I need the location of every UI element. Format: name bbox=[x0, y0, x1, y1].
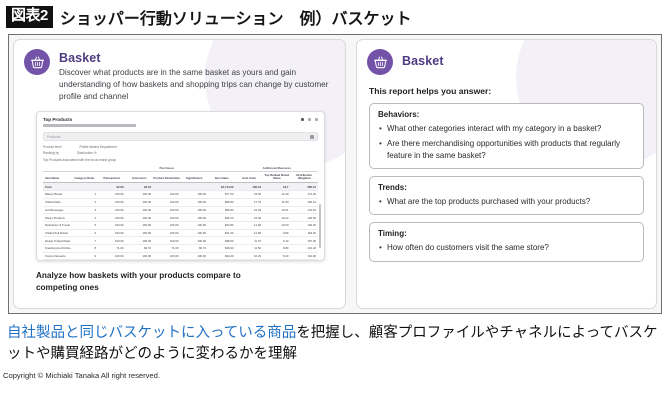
cell: 100.00 bbox=[126, 206, 154, 214]
basket-questions-card: Basket This report helps you answer: Beh… bbox=[356, 39, 657, 309]
question-list: What are the top products purchased with… bbox=[378, 196, 635, 207]
col-item-units[interactable]: Item Units bbox=[236, 172, 264, 183]
table-row: Bakery Bread1100.00100.00100.00100.00$77… bbox=[43, 191, 318, 199]
screenshot-subtitle: Shows which products are ranked within t… bbox=[43, 124, 193, 127]
cell: 4 bbox=[71, 214, 99, 222]
cell-item-name: Hot Beverages bbox=[43, 206, 71, 214]
cell: 107.30 bbox=[291, 237, 319, 245]
cell: 71.00 bbox=[98, 244, 126, 252]
question-item: What other categories interact with my c… bbox=[378, 123, 635, 134]
table-row: Snacking Hot Drinks871.0082.7071.0080.70… bbox=[43, 244, 318, 252]
cell: 101.00 bbox=[291, 252, 319, 260]
more-icon[interactable] bbox=[315, 118, 318, 121]
cell: 100.00 bbox=[126, 229, 154, 237]
question-list: What other categories interact with my c… bbox=[378, 123, 635, 161]
table-row: Frozen Desserts9100.00100.00100.00100.00… bbox=[43, 252, 318, 260]
page-title: 図表2 ショッパー行動ソリューション 例）バスケット bbox=[0, 0, 670, 33]
cell: 101.20 bbox=[291, 244, 319, 252]
cell: 100.00 bbox=[98, 198, 126, 206]
cell: $46.00 bbox=[208, 214, 236, 222]
cell: 100.00 bbox=[98, 260, 126, 261]
cell: 100.00 bbox=[181, 260, 209, 261]
cell: 10.22 bbox=[263, 214, 291, 222]
table-row: Ready To Eat Meals7100.00100.00100.00100… bbox=[43, 237, 318, 245]
cell: 8.80 bbox=[263, 244, 291, 252]
cell: 100.00 bbox=[181, 191, 209, 199]
copyright-notice: Copyright © Michiaki Tanaka All right re… bbox=[3, 371, 670, 380]
cell: 71.00 bbox=[153, 244, 181, 252]
table-row: Meal Makers10100.00100.00100.00100.00$28… bbox=[43, 260, 318, 261]
cell-item-name: Bakery Bread bbox=[43, 191, 71, 199]
cell: 3 bbox=[71, 206, 99, 214]
cell: 10.00 bbox=[263, 221, 291, 229]
cell: 100.00 bbox=[181, 214, 209, 222]
summary-highlight: 自社製品と同じバスケットに入っている商品 bbox=[7, 325, 296, 341]
table-column-header-row: Item Name Category Rank Transactions Cus… bbox=[43, 172, 318, 183]
cell: 141.23 bbox=[291, 206, 319, 214]
question-group-timing: Timing: How often do customers visit the… bbox=[369, 222, 644, 261]
cell: 5 bbox=[71, 221, 99, 229]
table-row: Refreshers & Treats5100.00100.00100.0010… bbox=[43, 221, 318, 229]
basket-card-title: Basket bbox=[59, 49, 335, 65]
cell: 100.00 bbox=[153, 198, 181, 206]
meta-value: Profile Marina Department bbox=[79, 145, 116, 149]
cell: 100.00 bbox=[98, 221, 126, 229]
cell: 100.00 bbox=[98, 252, 126, 260]
table-row: Total92.6892.18$1,714.22166.3418.7580.12 bbox=[43, 183, 318, 191]
slide-frame: Basket Discover what products are in the… bbox=[8, 34, 662, 314]
cell: $66.80 bbox=[208, 198, 236, 206]
question-list: How often do customers visit the same st… bbox=[378, 242, 635, 253]
cell: $36.90 bbox=[208, 244, 236, 252]
cell: 100.00 bbox=[153, 214, 181, 222]
summary-text: 自社製品と同じバスケットに入っている商品を把握し、顧客プロファイルやチャネルによ… bbox=[7, 323, 663, 364]
cell: 100.00 bbox=[181, 206, 209, 214]
cell-item-name: Frozen Desserts bbox=[43, 252, 71, 260]
col-category-rank[interactable]: Category Rank bbox=[71, 172, 99, 183]
report-screenshot: Top Products Shows which products are ra… bbox=[36, 111, 325, 261]
meta-label: Product level bbox=[43, 145, 61, 149]
cell: 125.50 bbox=[291, 214, 319, 222]
cell-item-name: Pastry Products bbox=[43, 214, 71, 222]
cell: 100.00 bbox=[126, 252, 154, 260]
group-heading: Trends: bbox=[378, 183, 635, 192]
basket-card-header: Basket Discover what products are in the… bbox=[14, 40, 345, 103]
cell-item-name: Chilled Soft Drinks bbox=[43, 229, 71, 237]
cell: 100.00 bbox=[153, 252, 181, 260]
col-distribution-weighted[interactable]: Distribution Weighted bbox=[291, 172, 319, 183]
cell: 100.00 bbox=[126, 221, 154, 229]
table-row: Chilled Dairy2100.00100.00100.00100.00$6… bbox=[43, 198, 318, 206]
questions-lead: This report helps you answer: bbox=[369, 86, 644, 96]
cell bbox=[71, 183, 99, 191]
col-top-ranked-brand-share[interactable]: Top Ranked Brand Share bbox=[263, 172, 291, 183]
meta-value: Distribution % bbox=[77, 151, 97, 155]
col-product-penetration[interactable]: Product Penetration bbox=[153, 172, 181, 183]
screenshot-scrollbar[interactable] bbox=[319, 204, 321, 248]
question-item: What are the top products purchased with… bbox=[378, 196, 635, 207]
cell: 9.10 bbox=[263, 237, 291, 245]
cell: $56.80 bbox=[208, 206, 236, 214]
cell: 100.00 bbox=[153, 221, 181, 229]
cell: 100.00 bbox=[98, 214, 126, 222]
group-heading: Timing: bbox=[378, 229, 635, 238]
cell: $1,714.22 bbox=[208, 183, 236, 191]
col-transactions[interactable]: Transactions bbox=[98, 172, 126, 183]
cell: 100.00 bbox=[126, 191, 154, 199]
cell: 11.70 bbox=[236, 237, 264, 245]
cell: 580.12 bbox=[291, 183, 319, 191]
cell: 8.10 bbox=[263, 260, 291, 261]
cell: 150.41 bbox=[291, 198, 319, 206]
cell: 16.20 bbox=[236, 206, 264, 214]
cell-item-name: Total bbox=[43, 183, 71, 191]
basket-questions-title: Basket bbox=[402, 49, 444, 68]
cell-item-name: Refreshers & Treats bbox=[43, 221, 71, 229]
cell: 17.70 bbox=[236, 198, 264, 206]
cell: 100.00 bbox=[126, 260, 154, 261]
cell: 7 bbox=[71, 237, 99, 245]
cell: 100.00 bbox=[181, 198, 209, 206]
cell: 100.00 bbox=[126, 214, 154, 222]
cell: 172.20 bbox=[291, 191, 319, 199]
cell: 100.00 bbox=[181, 221, 209, 229]
cell: $38.60 bbox=[208, 237, 236, 245]
page-title-text: ショッパー行動ソリューション 例）バスケット bbox=[60, 5, 412, 29]
basket-icon bbox=[24, 49, 50, 75]
cell: 120.20 bbox=[291, 221, 319, 229]
question-item: How often do customers visit the same st… bbox=[378, 242, 635, 253]
cell: $41.00 bbox=[208, 229, 236, 237]
cell bbox=[181, 183, 209, 191]
cell: 9.80 bbox=[236, 260, 264, 261]
cell: $28.60 bbox=[208, 260, 236, 261]
cell: 18.7 bbox=[263, 183, 291, 191]
screenshot-meta: Product level Profile Marina Department … bbox=[43, 145, 318, 162]
basket-card-description: Discover what products are in the same b… bbox=[59, 67, 335, 103]
group-heading: Behaviors: bbox=[378, 110, 635, 119]
cell: 1 bbox=[71, 191, 99, 199]
table-row: Hot Beverages3100.00100.00100.00100.00$5… bbox=[43, 206, 318, 214]
screenshot-note: Top Products associated with the focus b… bbox=[43, 158, 318, 162]
cell: 82.70 bbox=[126, 244, 154, 252]
cell: 15.00 bbox=[236, 214, 264, 222]
cell: 14.90 bbox=[236, 221, 264, 229]
meta-row: Product level Profile Marina Department bbox=[43, 145, 318, 149]
cell: 100.00 bbox=[153, 191, 181, 199]
cell: 92.68 bbox=[98, 183, 126, 191]
cell: 11.50 bbox=[236, 244, 264, 252]
col-customers[interactable]: Customers bbox=[126, 172, 154, 183]
cell: 100.00 bbox=[126, 237, 154, 245]
cell-item-name: Snacking Hot Drinks bbox=[43, 244, 71, 252]
cell: 118.40 bbox=[291, 229, 319, 237]
cell: 100.00 bbox=[181, 237, 209, 245]
basket-icon bbox=[367, 49, 393, 75]
cell: 100.00 bbox=[98, 206, 126, 214]
export-icon[interactable] bbox=[301, 118, 304, 121]
cell: 100.00 bbox=[153, 229, 181, 237]
cell-item-name: Chilled Dairy bbox=[43, 198, 71, 206]
cell: $77.00 bbox=[208, 191, 236, 199]
cell: 12.30 bbox=[263, 191, 291, 199]
cell: 100.00 bbox=[181, 252, 209, 260]
cell: 10.01 bbox=[263, 206, 291, 214]
cell: 100.00 bbox=[98, 229, 126, 237]
screenshot-title: Top Products bbox=[43, 117, 193, 122]
meta-row: Ranking by Distribution % bbox=[43, 151, 318, 155]
cell-item-name: Ready To Eat Meals bbox=[43, 237, 71, 245]
meta-label: Ranking by bbox=[43, 151, 59, 155]
cell: 8 bbox=[71, 244, 99, 252]
cell: 10 bbox=[71, 260, 99, 261]
cell: 100.00 bbox=[153, 237, 181, 245]
col-item-name[interactable]: Item Name bbox=[43, 172, 71, 183]
col-significance[interactable]: Significance bbox=[181, 172, 209, 183]
cell: 9 bbox=[71, 252, 99, 260]
cell: 11.50 bbox=[263, 198, 291, 206]
cell: $34.00 bbox=[208, 252, 236, 260]
top-products-table: Purchases Additional Measures Item Name … bbox=[43, 166, 318, 261]
cell: 97.60 bbox=[291, 260, 319, 261]
cell: 6 bbox=[71, 229, 99, 237]
cell: 100.00 bbox=[98, 237, 126, 245]
cell: 8.40 bbox=[263, 252, 291, 260]
cell: 92.18 bbox=[126, 183, 154, 191]
table-body: Total92.6892.18$1,714.22166.3418.7580.12… bbox=[43, 183, 318, 261]
cell: 100.00 bbox=[153, 260, 181, 261]
search-icon bbox=[310, 135, 314, 139]
cell: 12.80 bbox=[236, 229, 264, 237]
cell: 2 bbox=[71, 198, 99, 206]
cell: 100.00 bbox=[98, 191, 126, 199]
cell: 166.34 bbox=[236, 183, 264, 191]
screenshot-search-input[interactable]: Products bbox=[43, 132, 318, 141]
figure-number-badge: 図表2 bbox=[6, 6, 53, 28]
cell: 10.20 bbox=[236, 252, 264, 260]
filter-icon[interactable] bbox=[308, 118, 311, 121]
cell: 100.00 bbox=[181, 229, 209, 237]
left-panel-caption: Analyze how baskets with your products c… bbox=[36, 270, 266, 294]
question-group-behaviors: Behaviors: What other categories interac… bbox=[369, 103, 644, 169]
question-item: Are there merchandising opportunities wi… bbox=[378, 138, 635, 161]
cell: 80.70 bbox=[181, 244, 209, 252]
table-row: Chilled Soft Drinks6100.00100.00100.0010… bbox=[43, 229, 318, 237]
cell: 9.80 bbox=[263, 229, 291, 237]
cell: 23.00 bbox=[236, 191, 264, 199]
cell: 100.00 bbox=[153, 206, 181, 214]
basket-overview-card: Basket Discover what products are in the… bbox=[13, 39, 346, 309]
cell bbox=[153, 183, 181, 191]
screenshot-toolbar[interactable] bbox=[301, 117, 318, 121]
basket-questions-header: Basket bbox=[357, 40, 656, 75]
cell: $44.80 bbox=[208, 221, 236, 229]
col-item-value[interactable]: Item Value bbox=[208, 172, 236, 183]
cell-item-name: Meal Makers bbox=[43, 260, 71, 261]
cell: 100.00 bbox=[126, 198, 154, 206]
screenshot-search-placeholder: Products bbox=[47, 135, 60, 139]
table-row: Pastry Products4100.00100.00100.00100.00… bbox=[43, 214, 318, 222]
question-group-trends: Trends: What are the top products purcha… bbox=[369, 176, 644, 215]
